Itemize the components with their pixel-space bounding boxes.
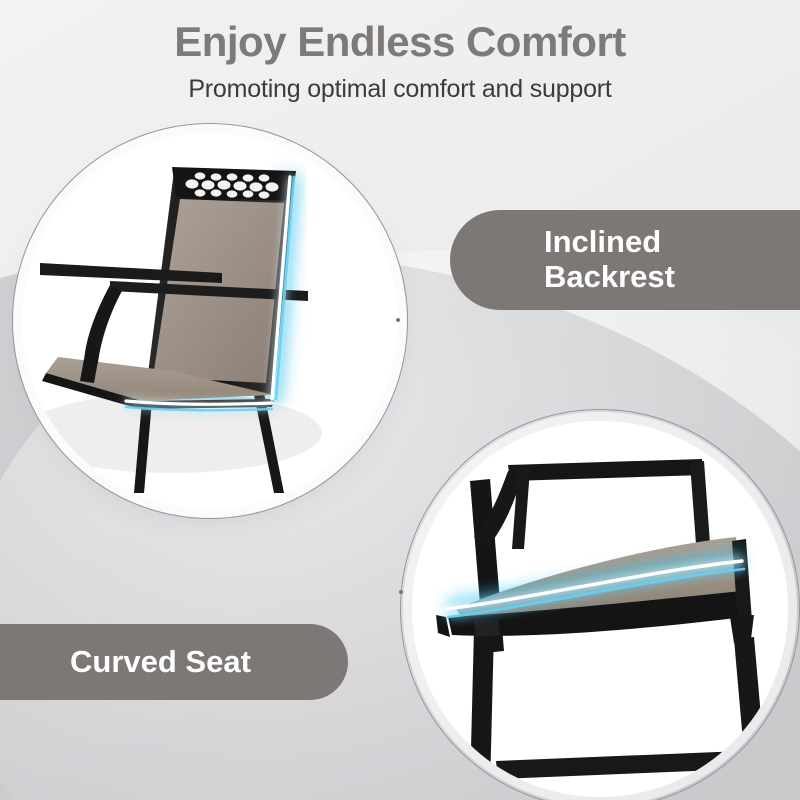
badge-inclined-backrest-line2: Backrest	[544, 260, 675, 295]
badge-inclined-backrest-line1: Inclined	[544, 225, 675, 260]
chair-seat-image	[412, 421, 788, 797]
chair-backrest-photo	[22, 133, 398, 509]
page-subtitle: Promoting optimal comfort and support	[0, 65, 800, 104]
page-title: Enjoy Endless Comfort	[0, 0, 800, 65]
badge-curved-seat: Curved Seat	[0, 624, 348, 700]
header: Enjoy Endless Comfort Promoting optimal …	[0, 0, 800, 104]
chair-seat-photo	[412, 421, 788, 797]
badge-curved-seat-label: Curved Seat	[70, 645, 251, 680]
marketing-image: Enjoy Endless Comfort Promoting optimal …	[0, 0, 800, 800]
ring-marker-dot-bottom	[399, 590, 403, 594]
badge-inclined-backrest: Inclined Backrest	[450, 210, 800, 310]
chair-backrest-image	[22, 133, 398, 509]
ring-marker-dot-top	[396, 318, 400, 322]
